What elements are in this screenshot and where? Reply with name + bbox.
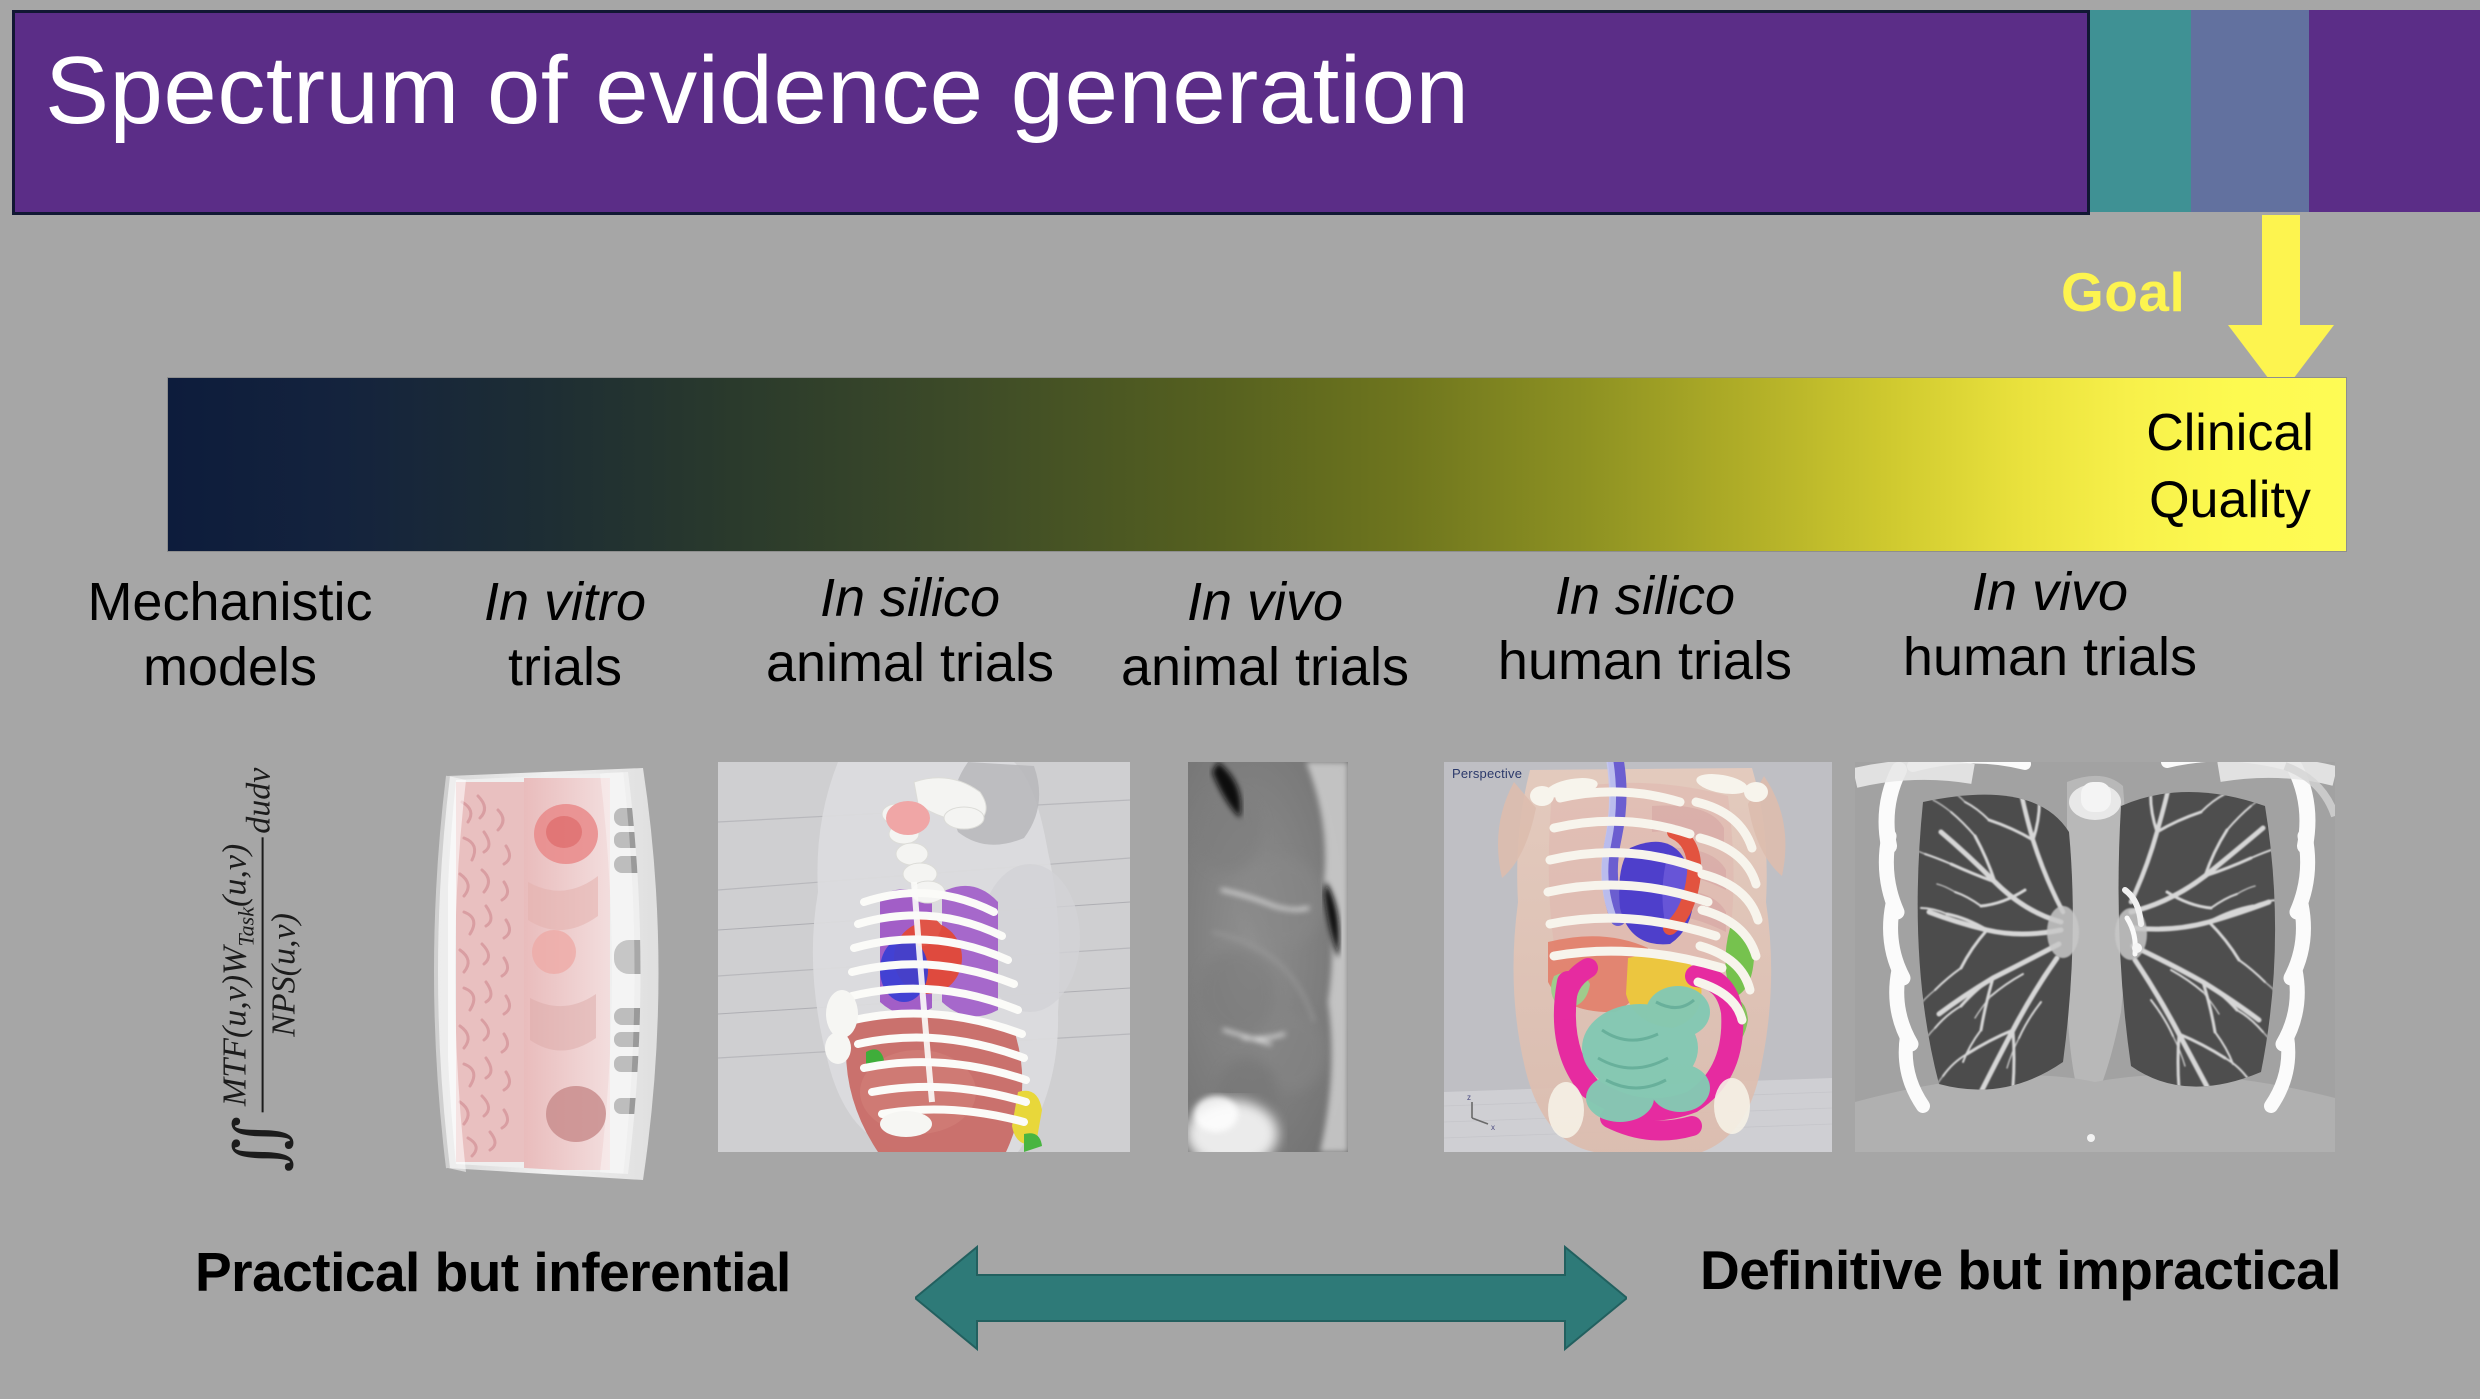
image-in-vivo-animal-radiograph — [1188, 762, 1348, 1152]
slide-canvas: Spectrum of evidence generation Goal Cli… — [0, 0, 2480, 1399]
category-label-mechanistic-models: Mechanistic models — [60, 570, 400, 700]
formula-args-1: (u,v) — [217, 975, 254, 1038]
page-title: Spectrum of evidence generation — [45, 41, 1469, 142]
formula-denominator: NPS(u,v) — [263, 907, 303, 1043]
mechanistic-model-formula: ∬ MTF(u,v)WTask(u,v) NPS(u,v) dudv — [130, 740, 390, 1200]
header-accent-purple — [2309, 10, 2480, 212]
category-line2: animal trials — [720, 631, 1100, 696]
footer-right-label: Definitive but impractical — [1700, 1238, 2341, 1302]
category-line1: In silico — [820, 568, 1000, 628]
image-in-vivo-human-ct — [1855, 762, 2335, 1152]
formula-w-subscript: Task — [233, 907, 258, 947]
image-in-vitro-phantom — [418, 762, 706, 1182]
category-label-in-silico-human-trials: In silico human trials — [1450, 564, 1840, 694]
formula-numerator: MTF(u,v)WTask(u,v) — [217, 838, 264, 1112]
category-line2: trials — [420, 635, 710, 700]
image-in-silico-human: z x Perspective — [1444, 762, 1832, 1152]
title-bar: Spectrum of evidence generation — [12, 10, 2090, 215]
category-label-in-vivo-animal-trials: In vivo animal trials — [1090, 570, 1440, 700]
formula-differential: dudv — [241, 768, 279, 834]
formula-fraction: MTF(u,v)WTask(u,v) NPS(u,v) — [217, 838, 304, 1112]
category-label-in-vivo-human-trials: In vivo human trials — [1840, 560, 2260, 690]
viewport-perspective-label: Perspective — [1452, 766, 1522, 781]
formula-args-2: (u,v) — [217, 844, 254, 907]
category-line2: animal trials — [1090, 635, 1440, 700]
category-label-in-vitro-trials: In vitro trials — [420, 570, 710, 700]
goal-label: Goal — [2061, 260, 2185, 324]
double-integral-symbol: ∬ — [234, 1116, 287, 1172]
category-line2: human trials — [1450, 629, 1840, 694]
category-line1: Mechanistic — [60, 570, 400, 635]
category-label-row: Mechanistic models In vitro trials In si… — [0, 570, 2480, 710]
category-line1: In vivo — [1187, 572, 1343, 632]
svg-text:z: z — [1467, 1093, 1471, 1102]
category-line1: In vitro — [484, 572, 646, 632]
tradeoff-double-arrow-icon — [915, 1243, 1627, 1353]
clinical-quality-label: Clinical Quality — [2125, 400, 2335, 533]
goal-down-arrow-icon — [2226, 215, 2336, 397]
category-line1: In vivo — [1972, 562, 2128, 622]
category-line2: models — [60, 635, 400, 700]
footer-left-label: Practical but inferential — [195, 1240, 791, 1304]
header-accent-slate — [2191, 10, 2309, 212]
category-label-in-silico-animal-trials: In silico animal trials — [720, 566, 1100, 696]
header-accent-teal — [2090, 10, 2191, 212]
formula-mtf: MTF — [217, 1038, 254, 1106]
clinical-quality-line2: Quality — [2149, 471, 2311, 529]
svg-text:x: x — [1491, 1123, 1495, 1132]
category-line1: In silico — [1555, 566, 1735, 626]
clinical-quality-line1: Clinical — [2146, 404, 2314, 462]
formula-w: W — [217, 947, 254, 975]
image-in-silico-animal — [718, 762, 1130, 1152]
evidence-spectrum-gradient-bar — [167, 377, 2347, 552]
category-line2: human trials — [1840, 625, 2260, 690]
